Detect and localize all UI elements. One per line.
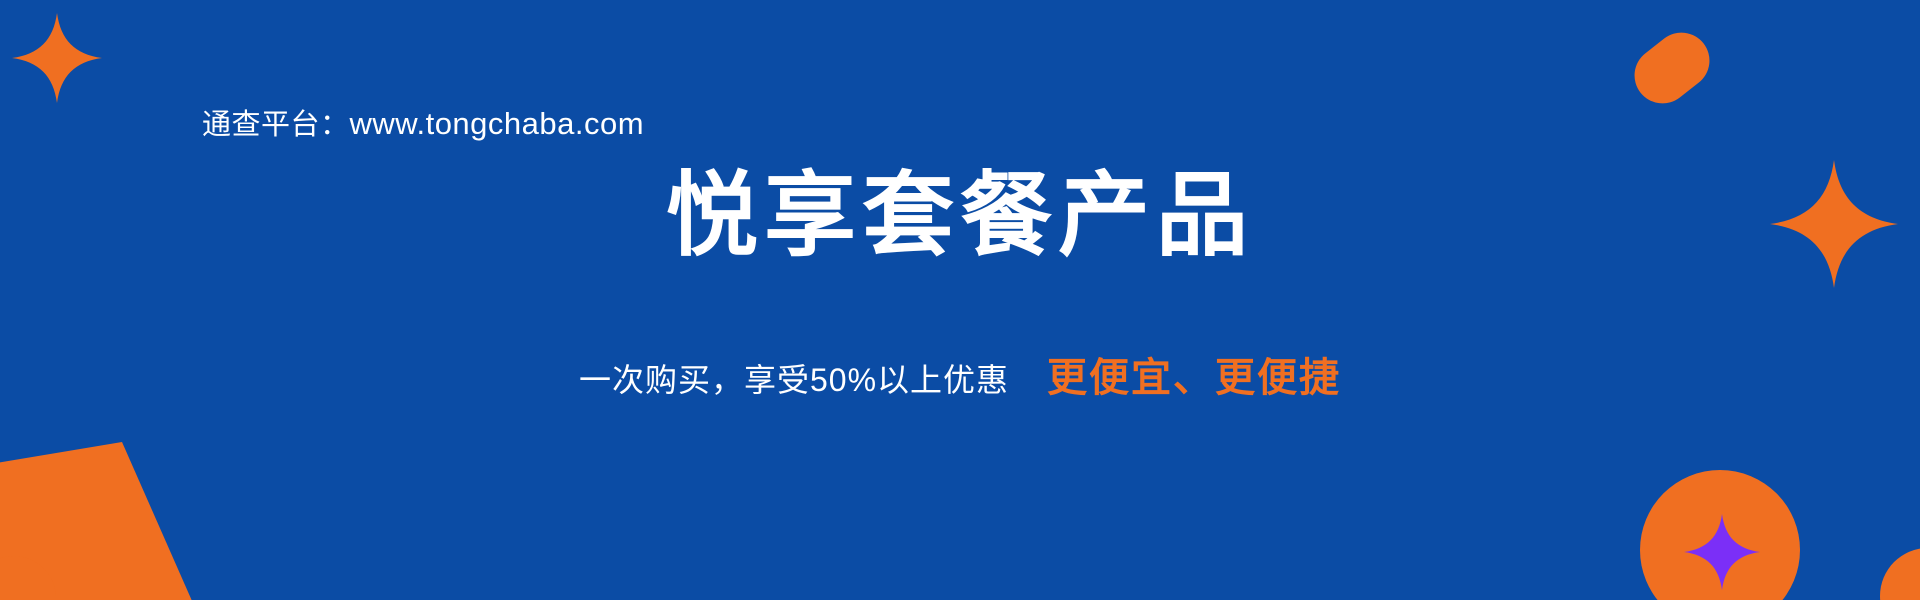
site-label: 通查平台：: [202, 109, 350, 141]
subtitle-plain: 一次购买，享受50%以上优惠: [579, 362, 1009, 398]
site-url: www.tongchaba.com: [350, 106, 645, 141]
banner-content: 通查平台：www.tongchaba.com 悦享套餐产品 一次购买，享受50%…: [0, 0, 1920, 600]
promo-banner: 通查平台：www.tongchaba.com 悦享套餐产品 一次购买，享受50%…: [0, 0, 1920, 600]
subtitle-accent: 更便宜、更便捷: [1047, 356, 1341, 400]
page-title: 悦享套餐产品: [0, 168, 1920, 265]
site-line: 通查平台：www.tongchaba.com: [202, 108, 644, 140]
subtitle-row: 一次购买，享受50%以上优惠更便宜、更便捷: [0, 358, 1920, 398]
